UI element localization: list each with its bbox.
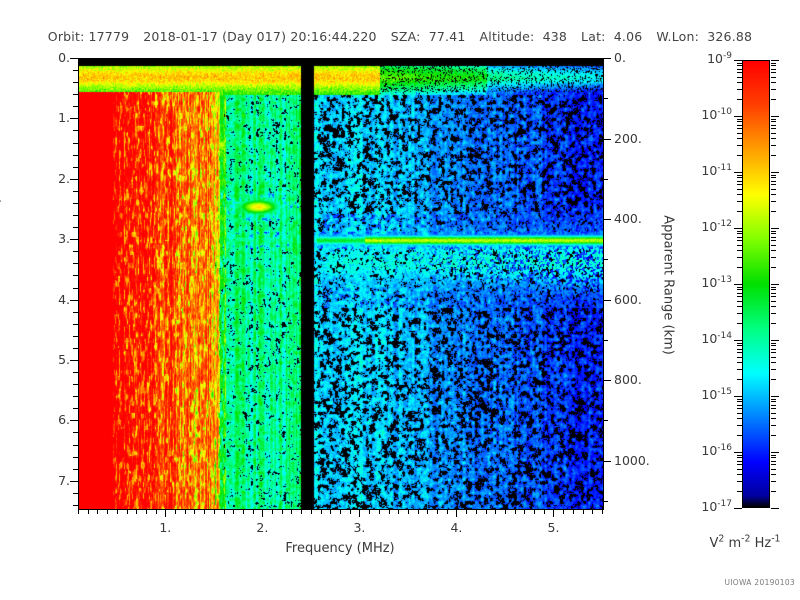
y-tick-minor: [73, 469, 78, 470]
colorbar-tick: [737, 455, 742, 456]
y2-tick-minor: [603, 58, 611, 59]
x-tick-minor: [418, 509, 419, 514]
colorbar-tick: [737, 231, 742, 232]
x-tick-minor: [515, 509, 516, 514]
colorbar-tick: [771, 250, 776, 251]
y-tick-label: 1.: [40, 110, 70, 125]
colorbar-tick: [737, 128, 742, 129]
colorbar-tick: [771, 72, 776, 73]
header-item-altitude: Altitude: 438: [480, 29, 568, 44]
x-tick-minor: [88, 509, 89, 514]
y2-tick-label: 200.: [614, 131, 642, 146]
colorbar-tick: [771, 352, 776, 353]
y2-tick-minor: [603, 219, 611, 220]
y2-tick-minor: [603, 98, 608, 99]
colorbar-tick: [737, 352, 742, 353]
y-tick-minor: [73, 396, 78, 397]
colorbar-tick: [771, 413, 776, 414]
colorbar-tick: [771, 284, 779, 285]
y-tick-minor: [73, 167, 78, 168]
colorbar-tick: [737, 464, 742, 465]
y2-tick-label: 0.: [614, 50, 626, 65]
colorbar-tick: [737, 138, 742, 139]
colorbar-tick: [771, 357, 776, 358]
x-tick-minor: [573, 509, 574, 514]
x-tick-minor: [321, 509, 322, 514]
colorbar-tick: [737, 145, 742, 146]
colorbar-tick: [737, 99, 742, 100]
y-tick-minor: [73, 263, 78, 264]
colorbar-tick: [737, 69, 742, 70]
y-tick-label: 5.: [40, 352, 70, 367]
colorbar-tick: [771, 267, 776, 268]
y-tick-minor: [70, 118, 78, 119]
x-tick-minor: [282, 509, 283, 514]
colorbar-tick: [771, 125, 776, 126]
colorbar-tick: [771, 405, 776, 406]
colorbar-tick: [734, 340, 742, 341]
colorbar-tick: [737, 133, 742, 134]
colorbar-tick: [771, 289, 776, 290]
colorbar-unit-text: V2 m-2 Hz-1: [709, 536, 780, 551]
colorbar-tick: [737, 155, 742, 156]
x-axis-title: Frequency (MHz): [78, 541, 602, 556]
colorbar-tick: [734, 228, 742, 229]
x-tick-minor: [350, 509, 351, 514]
colorbar-gradient: [743, 61, 769, 507]
colorbar-tick: [771, 201, 776, 202]
y2-tick-minor: [603, 340, 608, 341]
colorbar-tick: [737, 77, 742, 78]
x-tick-minor: [476, 509, 477, 514]
x-tick-minor: [272, 509, 273, 514]
x-tick-minor: [194, 509, 195, 514]
colorbar-tick: [737, 181, 742, 182]
colorbar-tick: [737, 184, 742, 185]
colorbar-tick: [737, 287, 742, 288]
header-value-altitude: 438: [543, 29, 567, 44]
y-tick-minor: [73, 493, 78, 494]
y-tick-minor: [73, 445, 78, 446]
colorbar-tick: [737, 72, 742, 73]
colorbar-tick: [771, 145, 776, 146]
y-tick-minor: [73, 457, 78, 458]
x-tick-minor: [408, 509, 409, 514]
colorbar-tick: [771, 323, 776, 324]
colorbar-tick: [771, 240, 776, 241]
colorbar-tick: [771, 343, 776, 344]
ionogram-heatmap-canvas: [79, 59, 603, 509]
colorbar-tick: [771, 116, 779, 117]
colorbar-tick: [737, 491, 742, 492]
x-tick-minor: [563, 509, 564, 514]
colorbar-tick: [771, 60, 779, 61]
colorbar-tick: [737, 211, 742, 212]
colorbar-tick: [737, 345, 742, 346]
x-tick-minor: [602, 509, 603, 514]
colorbar-tick: [771, 508, 779, 509]
colorbar-tick: [737, 425, 742, 426]
colorbar-tick: [737, 63, 742, 64]
colorbar-tick: [734, 116, 742, 117]
colorbar-tick: [771, 119, 776, 120]
y-tick-minor: [70, 481, 78, 482]
x-tick-label: 2.: [250, 520, 274, 535]
x-tick-minor: [359, 509, 360, 517]
colorbar-tick: [737, 65, 742, 66]
colorbar-tick: [737, 89, 742, 90]
colorbar-tick: [737, 119, 742, 120]
credit-footer: UIOWA 20190103: [640, 578, 795, 587]
header-label-altitude: Altitude:: [480, 29, 535, 44]
y2-tick-label: 800.: [614, 372, 642, 387]
y-tick-minor: [73, 130, 78, 131]
y2-tick-label: 400.: [614, 211, 642, 226]
colorbar-tick: [734, 452, 742, 453]
colorbar-tick: [771, 133, 776, 134]
colorbar-tick: [771, 69, 776, 70]
header-label-wlon: W.Lon:: [656, 29, 699, 44]
colorbar-tick: [771, 296, 776, 297]
y-tick-label: 4.: [40, 292, 70, 307]
y2-tick-minor: [603, 420, 608, 421]
colorbar-tick: [771, 369, 776, 370]
colorbar-tick: [771, 455, 776, 456]
colorbar-tick: [737, 401, 742, 402]
y-tick-minor: [70, 300, 78, 301]
colorbar-tick: [737, 435, 742, 436]
x-tick-minor: [291, 509, 292, 514]
y-tick-label: 6.: [40, 412, 70, 427]
colorbar-tick: [771, 340, 779, 341]
y2-tick-minor: [603, 380, 611, 381]
x-tick-minor: [204, 509, 205, 514]
header-value-timestamp: 2018-01-17 (Day 017) 20:16:44.220: [143, 29, 376, 44]
colorbar-tick: [771, 435, 776, 436]
header-item-orbit: Orbit:17779: [48, 29, 129, 44]
colorbar-tick: [771, 82, 776, 83]
header-value-sza: 77.41: [429, 29, 466, 44]
colorbar-tick: [771, 211, 776, 212]
x-tick-label: 5.: [541, 520, 565, 535]
y-tick-minor: [70, 239, 78, 240]
colorbar-tick: [737, 362, 742, 363]
y-tick-minor: [70, 179, 78, 180]
colorbar-tick-label: 10-9: [676, 51, 732, 66]
colorbar-tick: [771, 399, 776, 400]
colorbar-tick: [737, 245, 742, 246]
colorbar-tick: [737, 250, 742, 251]
y-tick-minor: [73, 215, 78, 216]
y-tick-label: 2.: [40, 171, 70, 186]
x-tick-minor: [379, 509, 380, 514]
colorbar-unit-label: V2 m-2 Hz-1: [690, 534, 800, 551]
colorbar-tick: [737, 399, 742, 400]
header-item-timestamp: 2018-01-17 (Day 017) 20:16:44.220: [143, 29, 376, 44]
x-tick-minor: [107, 509, 108, 514]
header-value-orbit: 17779: [89, 29, 130, 44]
x-tick-minor: [78, 509, 79, 514]
colorbar-tick: [771, 65, 776, 66]
colorbar-tick: [771, 287, 776, 288]
colorbar-tick: [771, 491, 776, 492]
colorbar-tick: [771, 63, 776, 64]
colorbar-tick: [734, 284, 742, 285]
colorbar-tick: [737, 240, 742, 241]
x-tick-minor: [253, 509, 254, 514]
y2-tick-label: 600.: [614, 292, 642, 307]
colorbar-tick: [771, 457, 776, 458]
y-tick-minor: [73, 324, 78, 325]
colorbar-tick: [737, 267, 742, 268]
colorbar-tick: [737, 296, 742, 297]
x-tick-minor: [389, 509, 390, 514]
colorbar-tick: [771, 379, 776, 380]
x-tick-minor: [544, 509, 545, 514]
colorbar-tick: [771, 345, 776, 346]
colorbar-tick: [737, 82, 742, 83]
colorbar-tick-label: 10-15: [676, 387, 732, 402]
colorbar-tick: [771, 228, 779, 229]
colorbar-tick-label: 10-11: [676, 163, 732, 178]
x-tick-minor: [146, 509, 147, 514]
colorbar-tick: [737, 125, 742, 126]
x-tick-minor: [136, 509, 137, 514]
colorbar-tick: [737, 313, 742, 314]
colorbar-tick: [737, 418, 742, 419]
colorbar-tick: [771, 469, 776, 470]
colorbar-tick-label: 10-12: [676, 219, 732, 234]
x-tick-minor: [505, 509, 506, 514]
y2-tick-minor: [603, 139, 611, 140]
colorbar-tick: [737, 357, 742, 358]
colorbar-tick: [771, 362, 776, 363]
y-tick-minor: [73, 191, 78, 192]
colorbar-tick-label: 10-16: [676, 443, 732, 458]
x-tick-label: 3.: [347, 520, 371, 535]
x-tick-minor: [486, 509, 487, 514]
x-tick-minor: [369, 509, 370, 514]
colorbar-tick: [771, 408, 776, 409]
colorbar-tick: [737, 194, 742, 195]
colorbar-tick: [771, 128, 776, 129]
colorbar-tick: [734, 508, 742, 509]
header-label-sza: SZA:: [391, 29, 421, 44]
colorbar-tick: [737, 175, 742, 176]
colorbar-tick: [737, 457, 742, 458]
colorbar-tick: [771, 184, 776, 185]
colorbar-tick: [734, 60, 742, 61]
colorbar-tick: [734, 172, 742, 173]
header-value-wlon: 326.88: [707, 29, 752, 44]
y-tick-minor: [73, 70, 78, 71]
colorbar-tick: [771, 313, 776, 314]
header-item-sza: SZA: 77.41: [391, 29, 466, 44]
colorbar-tick: [771, 257, 776, 258]
colorbar-tick: [771, 245, 776, 246]
x-tick-minor: [175, 509, 176, 514]
y-tick-label: 7.: [40, 473, 70, 488]
y-tick-minor: [73, 408, 78, 409]
y-tick-label: 0.: [40, 50, 70, 65]
header-item-lat: Lat: 4.06: [581, 29, 642, 44]
colorbar-tick: [771, 306, 776, 307]
y-axis-title: Time Delay (ms): [0, 115, 2, 315]
y-tick-minor: [73, 384, 78, 385]
colorbar-tick: [771, 425, 776, 426]
x-tick-minor: [224, 509, 225, 514]
colorbar-tick: [737, 323, 742, 324]
colorbar-tick: [771, 418, 776, 419]
colorbar-tick: [771, 155, 776, 156]
header-label-lat: Lat:: [581, 29, 606, 44]
x-tick-minor: [447, 509, 448, 514]
y-tick-minor: [73, 275, 78, 276]
x-tick-minor: [466, 509, 467, 514]
colorbar-tick: [771, 231, 776, 232]
colorbar-tick: [771, 77, 776, 78]
y-tick-minor: [73, 106, 78, 107]
x-tick-minor: [127, 509, 128, 514]
y2-tick-minor: [603, 179, 608, 180]
colorbar-tick: [737, 201, 742, 202]
x-tick-minor: [398, 509, 399, 514]
x-tick-minor: [427, 509, 428, 514]
colorbar-tick: [771, 89, 776, 90]
y2-tick-minor: [603, 461, 611, 462]
y-tick-minor: [73, 312, 78, 313]
x-tick-minor: [117, 509, 118, 514]
colorbar: [742, 60, 770, 508]
y-tick-minor: [73, 251, 78, 252]
x-tick-minor: [437, 509, 438, 514]
colorbar-tick-label: 10-14: [676, 331, 732, 346]
colorbar-tick: [771, 233, 776, 234]
colorbar-tick: [771, 177, 776, 178]
colorbar-tick: [737, 257, 742, 258]
colorbar-tick: [771, 237, 776, 238]
colorbar-tick: [737, 413, 742, 414]
x-tick-minor: [524, 509, 525, 514]
x-tick-label: 4.: [444, 520, 468, 535]
colorbar-tick: [737, 289, 742, 290]
colorbar-tick: [771, 401, 776, 402]
colorbar-tick: [771, 464, 776, 465]
colorbar-tick: [771, 194, 776, 195]
colorbar-tick: [737, 301, 742, 302]
y-tick-label: 3.: [40, 231, 70, 246]
y-tick-minor: [73, 203, 78, 204]
x-tick-minor: [301, 509, 302, 514]
colorbar-tick: [737, 233, 742, 234]
x-tick-minor: [340, 509, 341, 514]
colorbar-tick: [737, 474, 742, 475]
x-tick-minor: [185, 509, 186, 514]
colorbar-tick-label: 10-13: [676, 275, 732, 290]
colorbar-tick: [771, 172, 779, 173]
y-tick-minor: [70, 58, 78, 59]
colorbar-tick: [737, 237, 742, 238]
y2-axis-title: Apparent Range (km): [661, 175, 676, 395]
colorbar-tick: [737, 369, 742, 370]
y-tick-minor: [73, 143, 78, 144]
x-tick-label: 1.: [153, 520, 177, 535]
x-tick-minor: [97, 509, 98, 514]
y-tick-minor: [73, 372, 78, 373]
y-tick-minor: [73, 288, 78, 289]
colorbar-tick: [737, 343, 742, 344]
colorbar-tick: [771, 481, 776, 482]
y-tick-minor: [73, 82, 78, 83]
colorbar-tick-label: 10-17: [676, 499, 732, 514]
colorbar-tick: [771, 138, 776, 139]
x-tick-minor: [583, 509, 584, 514]
colorbar-tick: [771, 99, 776, 100]
header-value-lat: 4.06: [614, 29, 643, 44]
colorbar-tick: [734, 396, 742, 397]
colorbar-tick: [737, 306, 742, 307]
colorbar-tick: [771, 474, 776, 475]
y-tick-minor: [70, 360, 78, 361]
x-tick-minor: [456, 509, 457, 517]
colorbar-tick: [771, 452, 779, 453]
ionogram-plot-area: [78, 58, 604, 510]
y-tick-minor: [73, 348, 78, 349]
y-tick-minor: [73, 505, 78, 506]
colorbar-tick: [771, 461, 776, 462]
y-tick-minor: [73, 155, 78, 156]
x-tick-minor: [534, 509, 535, 514]
x-tick-minor: [156, 509, 157, 514]
x-tick-minor: [495, 509, 496, 514]
x-tick-minor: [330, 509, 331, 514]
x-tick-minor: [233, 509, 234, 514]
colorbar-tick: [737, 121, 742, 122]
y2-tick-minor: [603, 259, 608, 260]
x-tick-minor: [214, 509, 215, 514]
y2-tick-minor: [603, 300, 611, 301]
x-tick-minor: [553, 509, 554, 517]
colorbar-tick: [771, 301, 776, 302]
colorbar-tick: [771, 396, 779, 397]
colorbar-tick: [737, 481, 742, 482]
colorbar-tick: [737, 469, 742, 470]
header-label-orbit: Orbit:: [48, 29, 85, 44]
colorbar-tick: [771, 121, 776, 122]
colorbar-tick: [771, 349, 776, 350]
colorbar-tick: [737, 349, 742, 350]
colorbar-tick: [737, 461, 742, 462]
x-tick-minor: [592, 509, 593, 514]
y-tick-minor: [73, 227, 78, 228]
y-tick-minor: [70, 420, 78, 421]
x-tick-minor: [262, 509, 263, 517]
colorbar-tick: [737, 405, 742, 406]
y-tick-minor: [73, 336, 78, 337]
y-tick-minor: [73, 432, 78, 433]
colorbar-tick: [737, 408, 742, 409]
y2-tick-label: 1000.: [614, 453, 650, 468]
colorbar-tick: [771, 181, 776, 182]
colorbar-tick: [771, 189, 776, 190]
header-item-wlon: W.Lon: 326.88: [656, 29, 752, 44]
colorbar-tick: [737, 177, 742, 178]
colorbar-tick: [737, 189, 742, 190]
colorbar-tick: [737, 293, 742, 294]
y-tick-minor: [73, 94, 78, 95]
colorbar-tick-label: 10-10: [676, 107, 732, 122]
x-tick-minor: [243, 509, 244, 514]
